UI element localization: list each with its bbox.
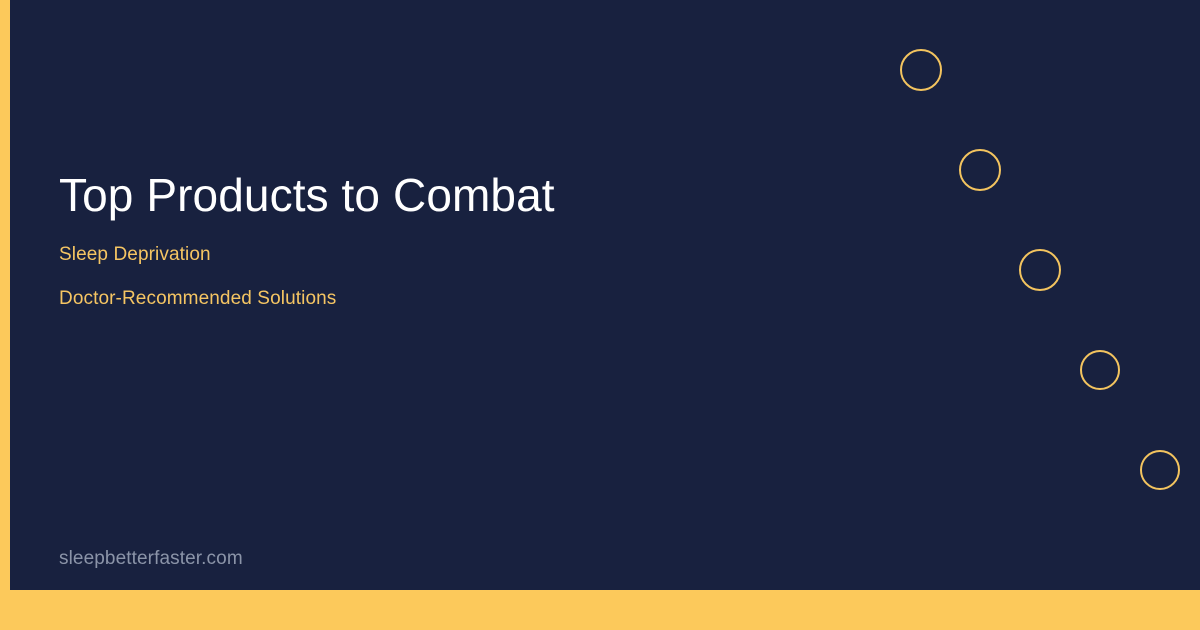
decorative-circle-5	[1140, 450, 1180, 490]
slide-subtitle-primary: Sleep Deprivation	[59, 244, 819, 266]
slide-canvas: Top Products to Combat Sleep Deprivation…	[10, 0, 1200, 590]
slide-title: Top Products to Combat	[59, 168, 819, 222]
site-url-footer: sleepbetterfaster.com	[59, 548, 243, 570]
slide-text-block: Top Products to Combat Sleep Deprivation…	[59, 168, 819, 310]
accent-bar-left	[0, 0, 10, 630]
decorative-circle-2	[959, 149, 1001, 191]
presentation-slide: Top Products to Combat Sleep Deprivation…	[0, 0, 1200, 630]
slide-subtitle-secondary: Doctor-Recommended Solutions	[59, 288, 819, 310]
decorative-circle-3	[1019, 249, 1061, 291]
decorative-circle-1	[900, 49, 942, 91]
accent-bar-bottom	[0, 590, 1200, 630]
decorative-circle-4	[1080, 350, 1120, 390]
